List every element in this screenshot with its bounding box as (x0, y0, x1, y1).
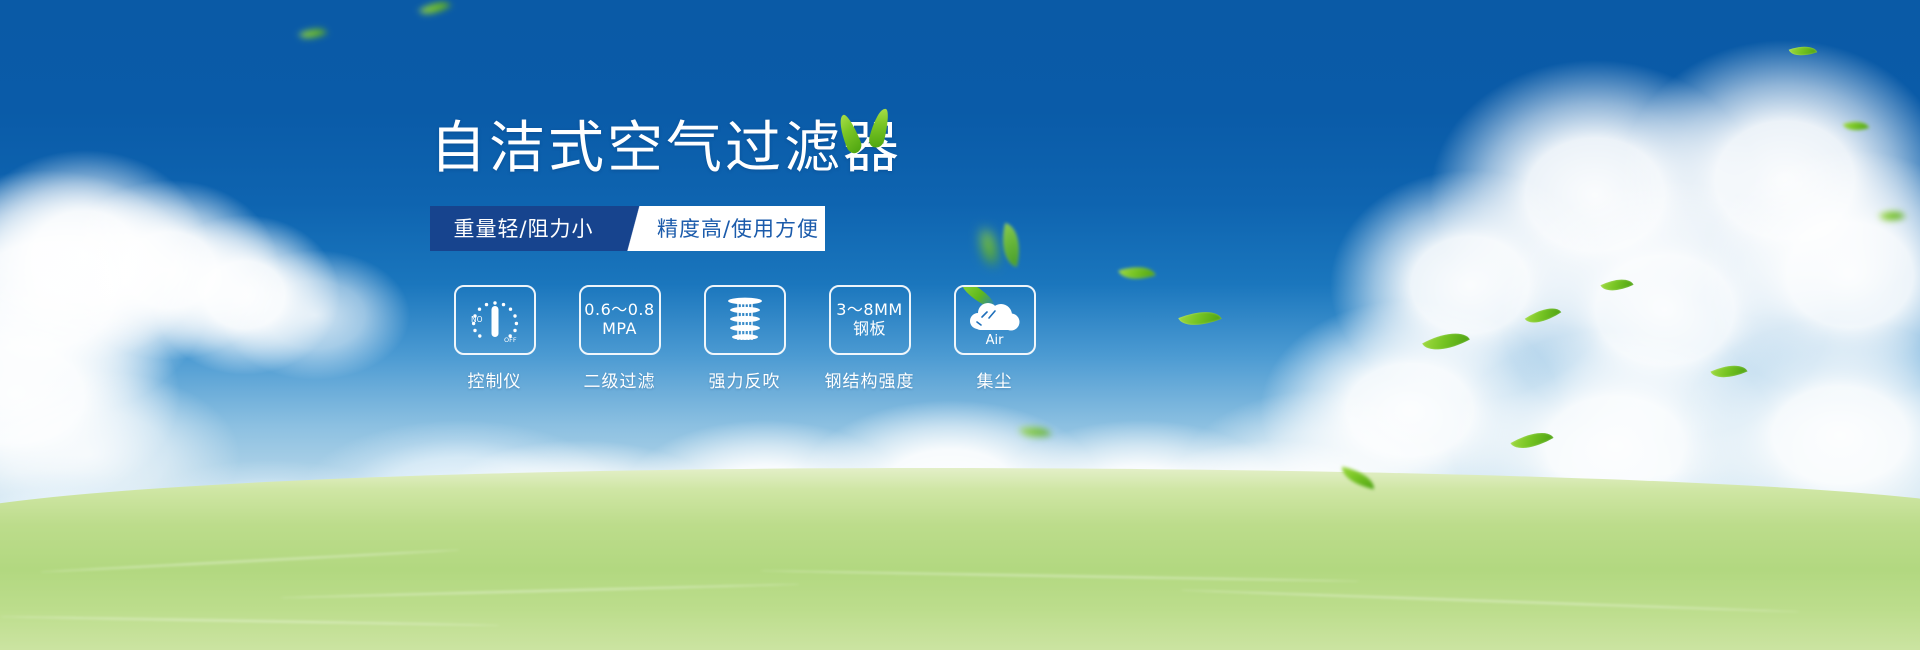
banner-content: 自洁式空气过滤器 重量轻/阻力小 精度高/使用方便 (430, 118, 1070, 392)
feature-icon-box: 3～8MM 钢板 (829, 285, 911, 355)
pressure-text-icon-line2: MPA (602, 320, 637, 338)
product-hero-banner: 自洁式空气过滤器 重量轻/阻力小 精度高/使用方便 (0, 0, 1920, 650)
title-leaf-decoration (840, 108, 910, 154)
feature-icon-row: NO OFF 控制仪 0.6～0.8 MPA 二级过滤 (432, 285, 1070, 392)
feature-item-pressure[interactable]: 0.6～0.8 MPA 二级过滤 (557, 285, 682, 392)
feature-caption: 钢结构强度 (825, 367, 915, 392)
feature-item-dust-collection[interactable]: Air 集尘 (932, 285, 1057, 392)
steel-plate-text-icon-line2: 钢板 (853, 320, 886, 338)
control-dial-icon: NO OFF (464, 294, 526, 346)
title-leaf-icon (835, 113, 864, 156)
feature-tagline-tabs: 重量轻/阻力小 精度高/使用方便 (430, 206, 825, 251)
feature-caption: 强力反吹 (709, 367, 781, 392)
filter-cartridge-icon (716, 294, 774, 346)
feature-caption: 二级过滤 (584, 367, 656, 392)
feature-icon-box: 0.6～0.8 MPA (579, 285, 661, 355)
page-title: 自洁式空气过滤器 (430, 118, 1070, 180)
feature-icon-box: NO OFF (454, 285, 536, 355)
grass-foreground (0, 468, 1920, 650)
title-leaf-icon (867, 107, 891, 149)
air-label: Air (956, 333, 1034, 348)
feature-item-steel[interactable]: 3～8MM 钢板 钢结构强度 (807, 285, 932, 392)
dial-label-off: OFF (504, 336, 517, 344)
dial-label-no: NO (471, 315, 483, 324)
steel-plate-text-icon-line1: 3～8MM (836, 301, 902, 319)
tagline-tab-primary[interactable]: 重量轻/阻力小 (430, 206, 623, 251)
feature-icon-box: Air (954, 285, 1036, 355)
feature-item-backblow[interactable]: 强力反吹 (682, 285, 807, 392)
feature-caption: 控制仪 (468, 367, 522, 392)
feature-icon-box (704, 285, 786, 355)
feature-item-control-dial[interactable]: NO OFF 控制仪 (432, 285, 557, 392)
feature-caption: 集尘 (977, 367, 1013, 392)
tagline-tab-secondary[interactable]: 精度高/使用方便 (649, 206, 825, 251)
tab-divider (623, 206, 649, 251)
pressure-text-icon-line1: 0.6～0.8 (584, 301, 654, 319)
